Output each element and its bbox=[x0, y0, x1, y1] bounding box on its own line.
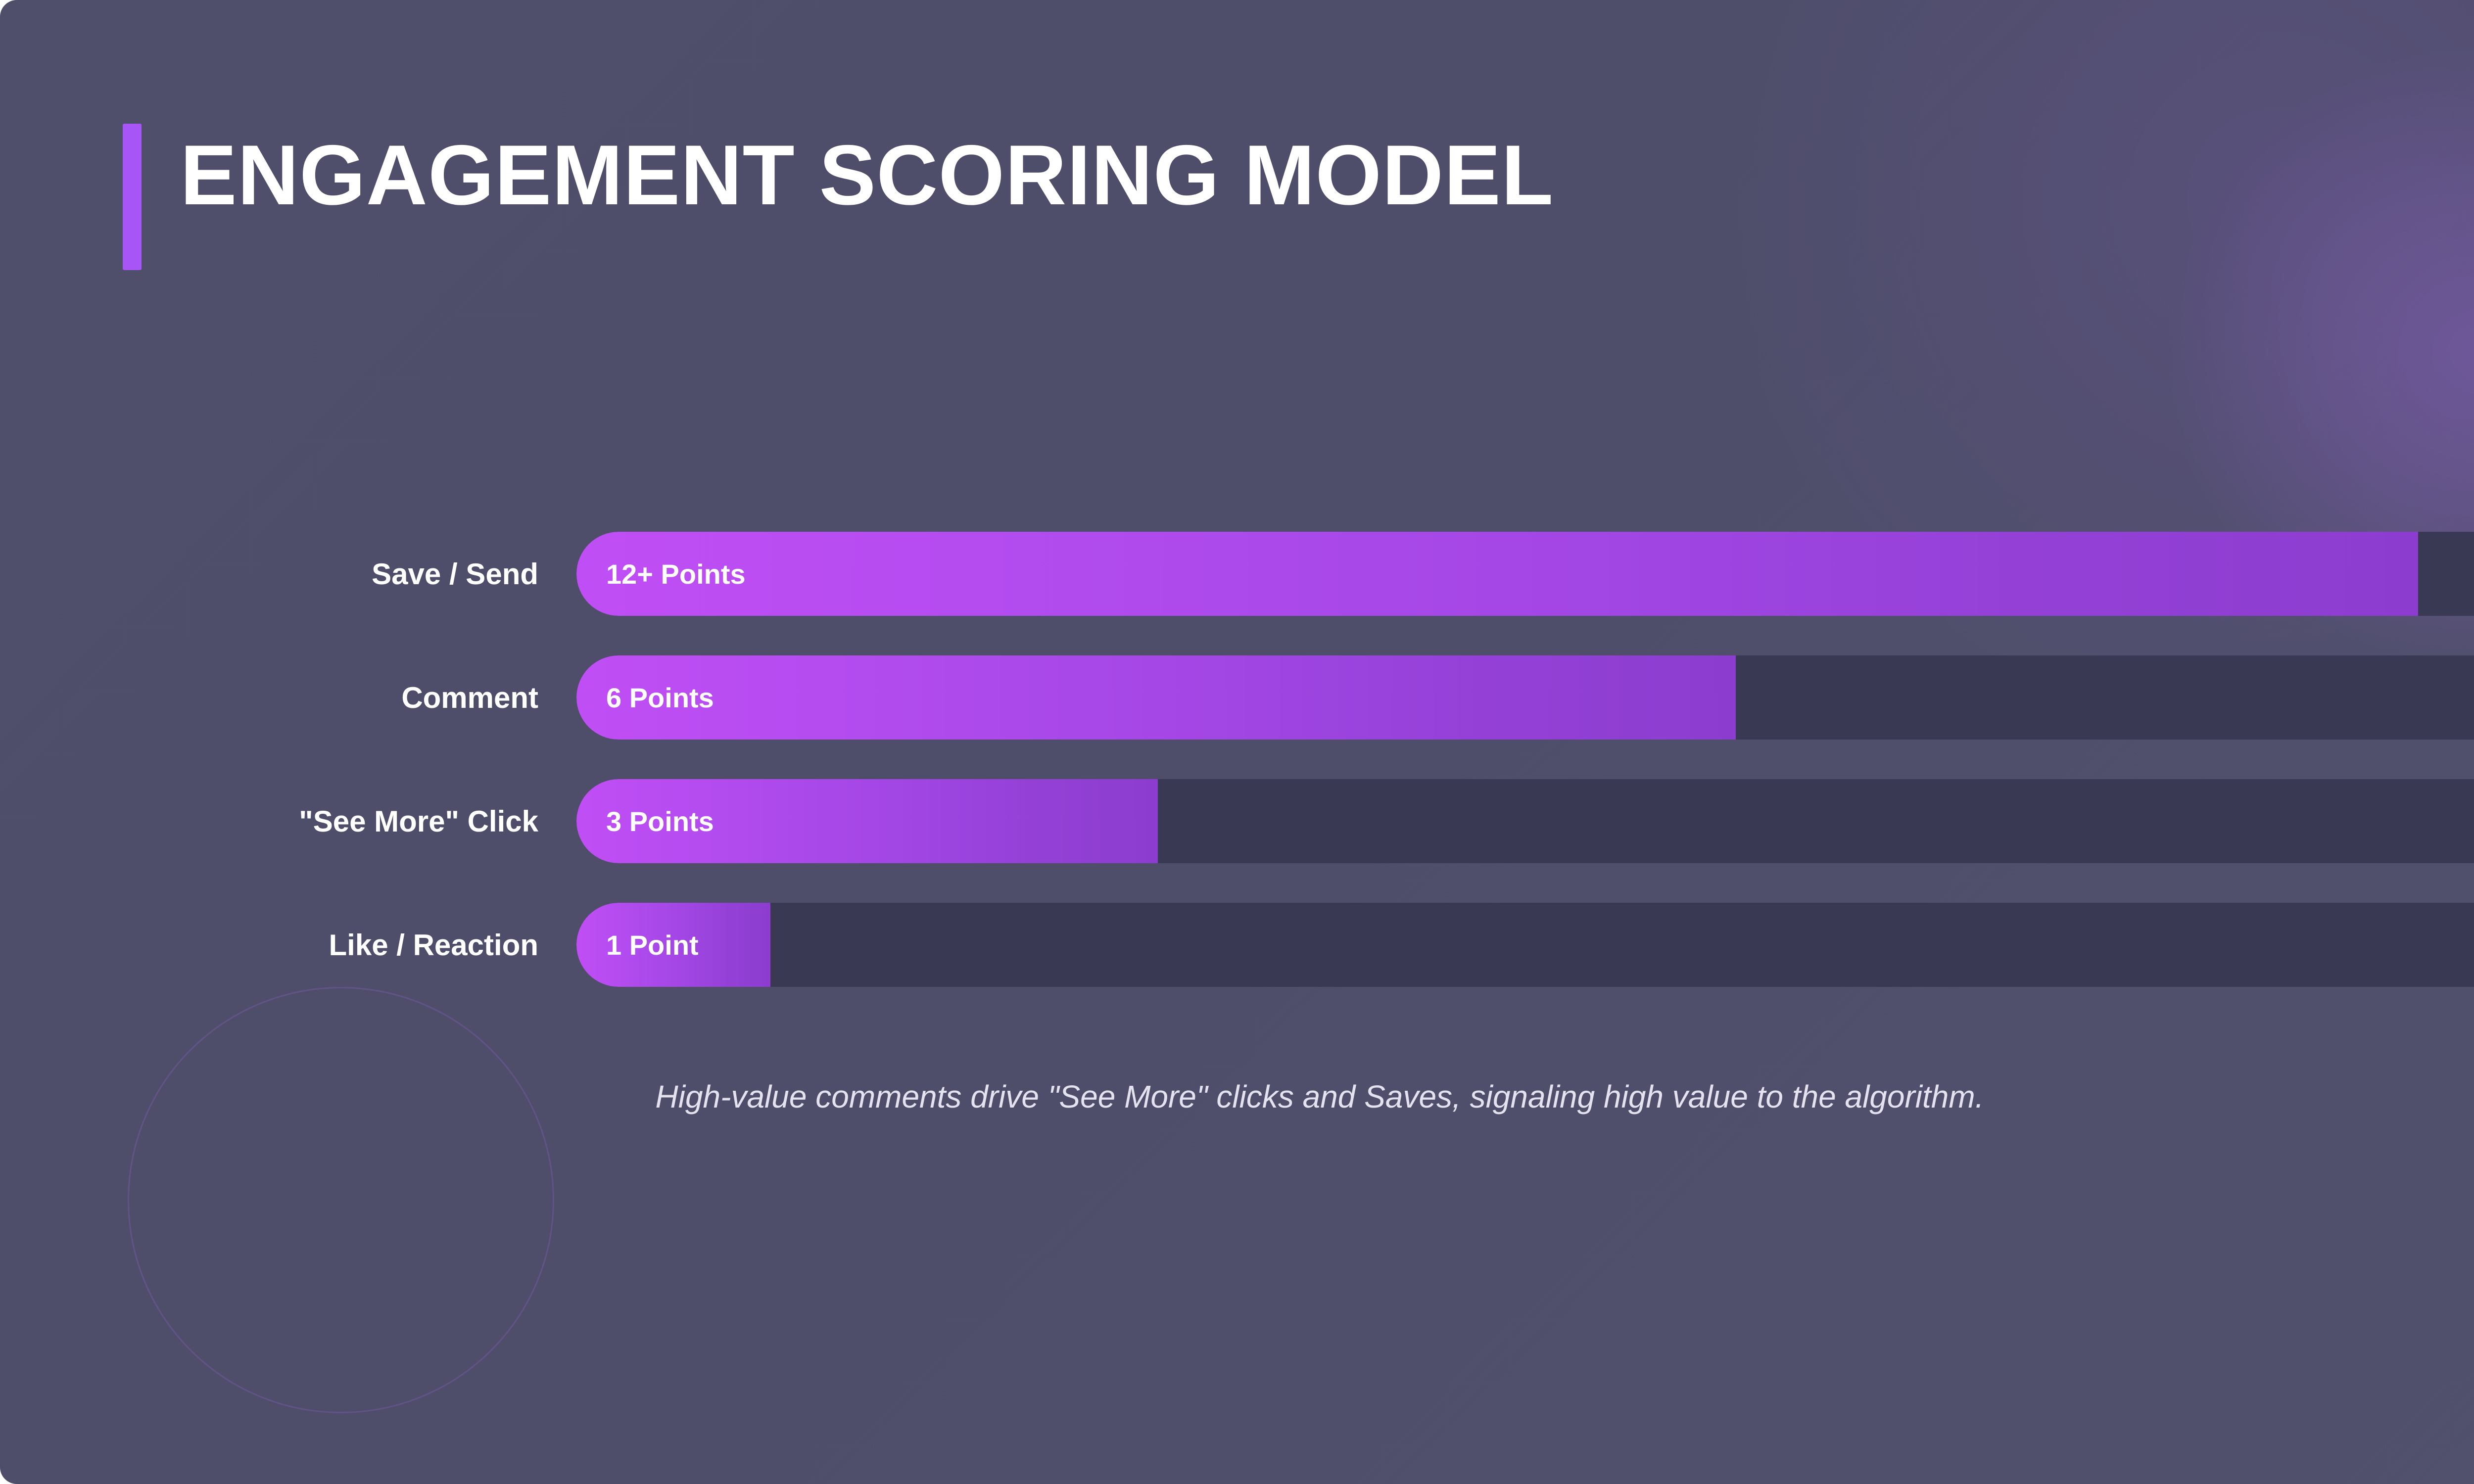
bar-fill: 1 Point bbox=[576, 903, 770, 987]
bar-value-label: 6 Points bbox=[606, 682, 714, 714]
slide-canvas: ENGAGEMENT SCORING MODEL Save / Send 12+… bbox=[0, 0, 2474, 1484]
bar-label: Comment bbox=[198, 655, 538, 740]
bar-label: Like / Reaction bbox=[198, 903, 538, 987]
bar-fill: 6 Points bbox=[576, 655, 1736, 740]
bar-label: Save / Send bbox=[198, 532, 538, 616]
bar-track: 3 Points bbox=[576, 779, 2474, 863]
bar-track: 1 Point bbox=[576, 903, 2474, 987]
bar-chart: Save / Send 12+ Points Comment 6 Points … bbox=[0, 0, 2474, 1484]
bar-value-label: 12+ Points bbox=[606, 558, 746, 590]
bar-fill: 12+ Points bbox=[576, 532, 2418, 616]
chart-caption: High-value comments drive "See More" cli… bbox=[0, 1078, 2474, 1115]
bar-value-label: 3 Points bbox=[606, 805, 714, 837]
chart-row: Comment 6 Points bbox=[0, 655, 2474, 740]
bar-label: "See More" Click bbox=[198, 779, 538, 863]
bar-track: 12+ Points bbox=[576, 532, 2474, 616]
bar-fill: 3 Points bbox=[576, 779, 1158, 863]
chart-row: "See More" Click 3 Points bbox=[0, 779, 2474, 863]
bar-value-label: 1 Point bbox=[606, 929, 699, 961]
bar-track: 6 Points bbox=[576, 655, 2474, 740]
chart-row: Save / Send 12+ Points bbox=[0, 532, 2474, 616]
chart-row: Like / Reaction 1 Point bbox=[0, 903, 2474, 987]
